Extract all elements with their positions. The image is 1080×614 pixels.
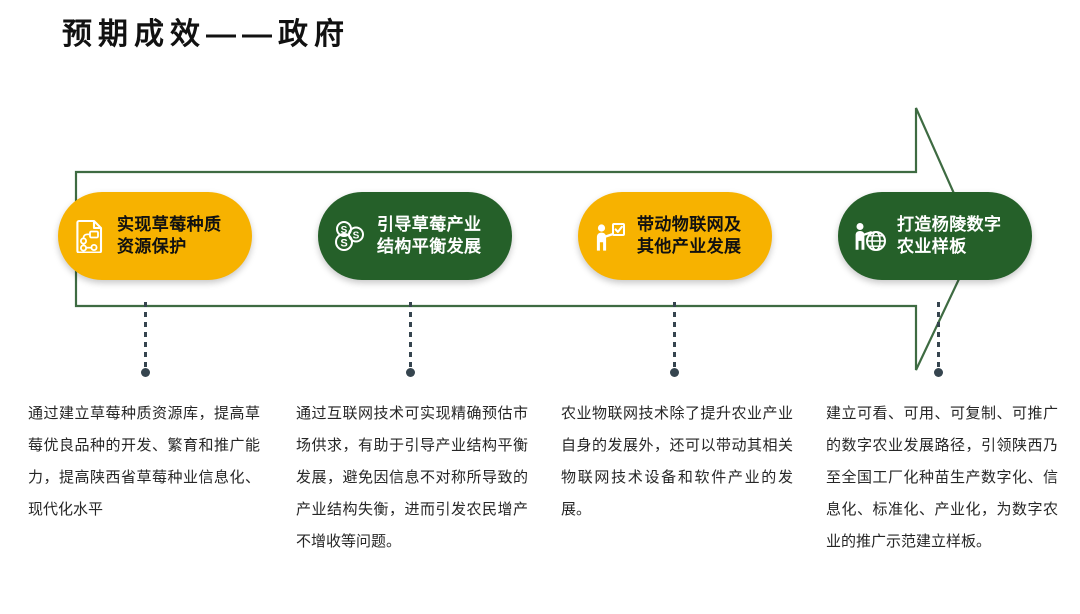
document-network-icon xyxy=(72,216,108,256)
step-pill-label-3: 带动物联网及 其他产业发展 xyxy=(637,214,741,259)
step-connector-dot-3 xyxy=(670,368,679,377)
money-coins-icon: S S S xyxy=(332,216,368,256)
svg-text:S: S xyxy=(340,238,347,250)
step-description-1: 通过建立草莓种质资源库，提高草莓优良品种的开发、繁育和推广能力，提高陕西省草莓种… xyxy=(28,398,260,526)
step-description-3: 农业物联网技术除了提升农业产业自身的发展外，还可以带动其相关物联网技术设备和软件… xyxy=(561,398,793,526)
step-pill-1[interactable]: 实现草莓种质 资源保护 xyxy=(58,192,252,280)
step-description-4: 建立可看、可用、可复制、可推广的数字农业发展路径，引领陕西乃至全国工厂化种苗生产… xyxy=(826,398,1058,558)
step-pill-label-2: 引导草莓产业 结构平衡发展 xyxy=(377,214,481,259)
step-pill-4[interactable]: 打造杨陵数字 农业样板 xyxy=(838,192,1032,280)
step-pill-label-1: 实现草莓种质 资源保护 xyxy=(117,214,221,259)
person-checklist-icon xyxy=(592,216,628,256)
svg-text:S: S xyxy=(353,231,360,242)
step-description-2: 通过互联网技术可实现精确预估市场供求，有助于引导产业结构平衡发展，避免因信息不对… xyxy=(296,398,528,558)
step-connector-2 xyxy=(409,302,412,370)
step-pill-2[interactable]: S S S 引导草莓产业 结构平衡发展 xyxy=(318,192,512,280)
step-connector-dot-4 xyxy=(934,368,943,377)
step-connector-3 xyxy=(673,302,676,370)
step-pill-label-4: 打造杨陵数字 农业样板 xyxy=(897,214,1001,259)
person-globe-icon xyxy=(852,216,888,256)
step-connector-dot-1 xyxy=(141,368,150,377)
step-connector-1 xyxy=(144,302,147,370)
steps-container: 实现草莓种质 资源保护 通过建立草莓种质资源库，提高草莓优良品种的开发、繁育和推… xyxy=(0,0,1080,609)
step-pill-3[interactable]: 带动物联网及 其他产业发展 xyxy=(578,192,772,280)
step-connector-4 xyxy=(937,302,940,370)
step-connector-dot-2 xyxy=(406,368,415,377)
